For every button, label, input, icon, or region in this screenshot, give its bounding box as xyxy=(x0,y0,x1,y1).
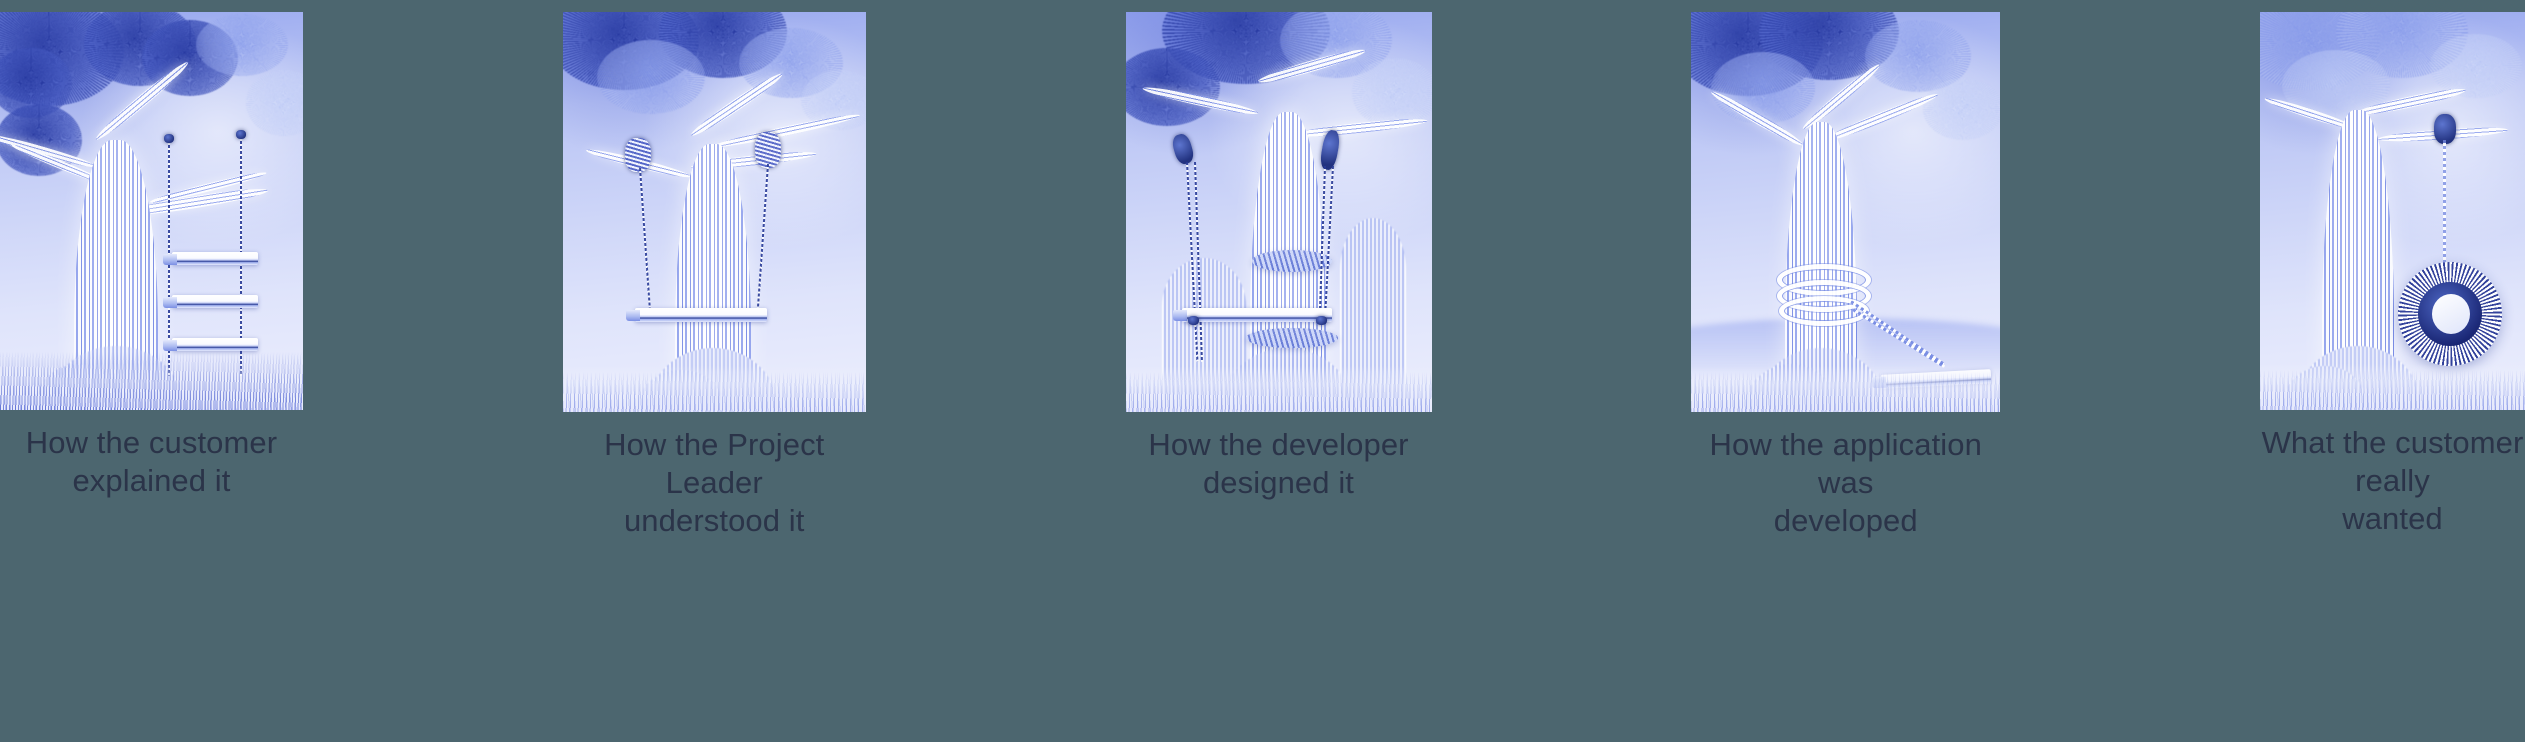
caption-line-1: How the customer xyxy=(0,424,303,462)
caption-line-2: developed xyxy=(1691,502,2000,540)
canopy-icon xyxy=(1352,58,1432,128)
caption-line-1: How the Project Leader xyxy=(563,426,866,502)
illustration-tree-swing-plank-on-stubs xyxy=(563,12,866,412)
canopy-icon xyxy=(196,14,288,76)
swing-plank xyxy=(172,338,258,351)
branch-stub xyxy=(755,132,781,168)
swing-plank xyxy=(1182,308,1332,322)
panel-caption: How the developer designed it xyxy=(1126,426,1432,502)
canopy-icon xyxy=(1923,78,2000,140)
panel-caption: How the application was developed xyxy=(1691,426,2000,539)
swing-plank xyxy=(172,295,258,308)
panel-4[interactable]: How the application was developed xyxy=(1691,12,2000,742)
caption-line-2: designed it xyxy=(1126,464,1432,502)
caption-line-2: explained it xyxy=(0,462,303,500)
tree-illustration xyxy=(1691,12,2000,412)
tree-branch xyxy=(1291,116,1427,140)
illustration-tree-swing-three-planks xyxy=(0,12,303,410)
panel-1[interactable]: How the customer explained it xyxy=(0,12,303,742)
illustration-tree-swing-plank-roped-to-trunk xyxy=(1126,12,1432,412)
canopy-icon xyxy=(1711,52,1815,124)
panel-caption: How the Project Leader understood it xyxy=(563,426,866,539)
grass xyxy=(0,352,303,410)
panel-caption: What the customer really wanted xyxy=(2260,424,2525,537)
comic-strip: How the customer explained it xyxy=(0,0,2525,742)
branch-stub xyxy=(625,138,651,172)
tire-center-hole xyxy=(2432,294,2470,334)
grass xyxy=(2260,370,2525,410)
tree-illustration xyxy=(0,12,303,410)
caption-line-2: wanted xyxy=(2260,500,2525,538)
rope-knot xyxy=(1316,316,1327,325)
canopy-icon xyxy=(246,70,303,136)
panel-caption: How the customer explained it xyxy=(0,424,303,500)
rope-knot xyxy=(164,134,174,143)
rope-knot xyxy=(1188,316,1199,325)
rope-knot xyxy=(236,130,246,139)
illustration-tree-rope-coil-plank-on-ground xyxy=(1691,12,2000,412)
tree-illustration xyxy=(563,12,866,412)
caption-line-1: What the customer really xyxy=(2260,424,2525,500)
caption-line-1: How the application was xyxy=(1691,426,2000,502)
panel-3[interactable]: How the developer designed it xyxy=(1126,12,1432,742)
swing-plank xyxy=(635,308,767,322)
grass xyxy=(563,372,866,412)
illustration-tree-tire-swing xyxy=(2260,12,2525,410)
canopy-icon xyxy=(597,40,705,114)
swing-rope xyxy=(2443,140,2446,270)
canopy-icon xyxy=(2430,34,2522,98)
swing-seat-oval xyxy=(1246,328,1338,348)
swing-plank xyxy=(172,252,258,265)
caption-line-1: How the developer xyxy=(1126,426,1432,464)
tree-illustration xyxy=(1126,12,1432,412)
canopy-icon xyxy=(1126,48,1220,126)
panel-5[interactable]: What the customer really wanted xyxy=(2260,12,2525,742)
caption-line-2: understood it xyxy=(563,502,866,540)
panel-2[interactable]: How the Project Leader understood it xyxy=(563,12,866,742)
tree-branch xyxy=(712,111,861,151)
grass xyxy=(1126,372,1432,412)
grass xyxy=(1691,372,2000,412)
